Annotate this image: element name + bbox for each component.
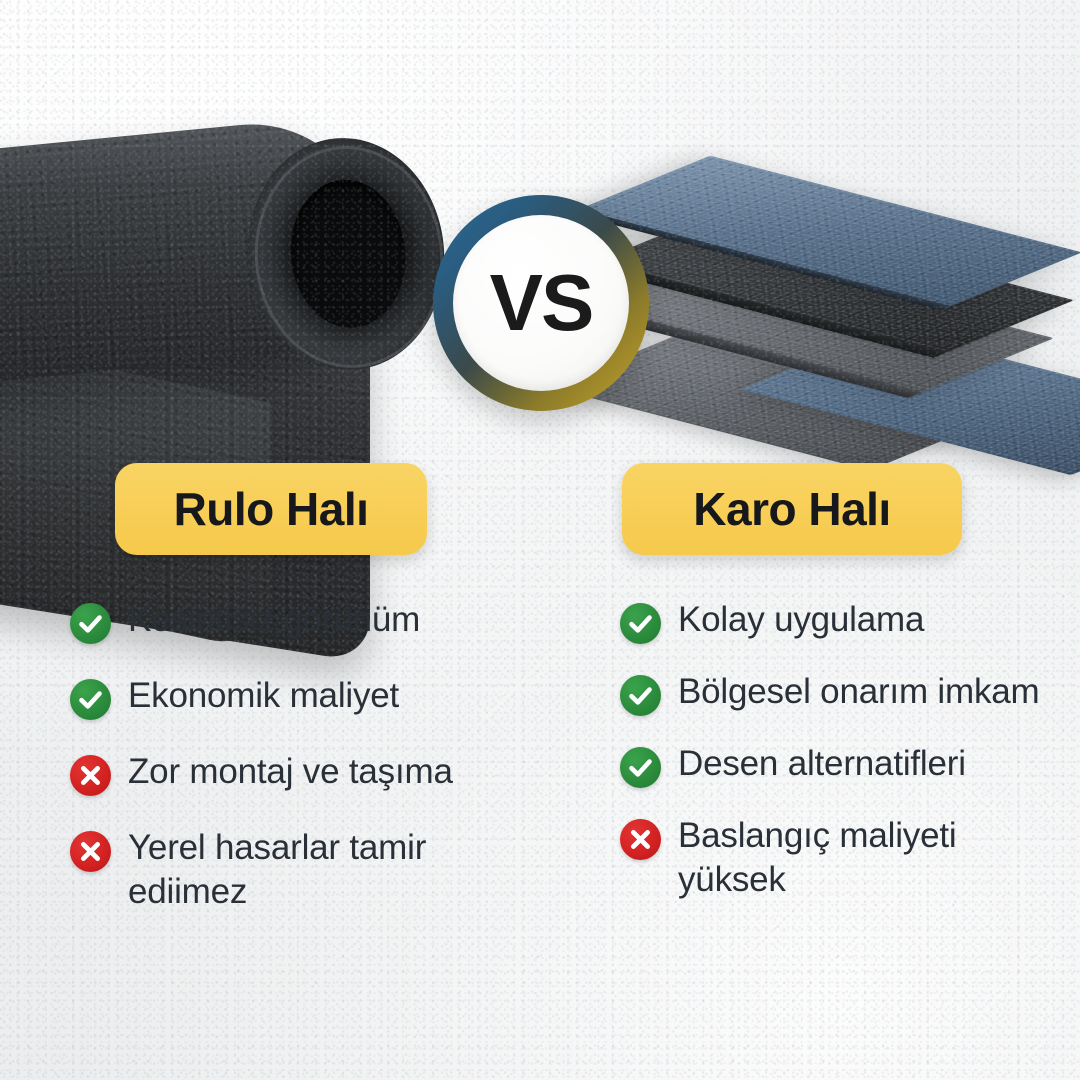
carpet-tiles-image: [600, 150, 1080, 510]
feature-list-karo-hali: Kolay uygulama Bölgesel onarım imkam Des…: [620, 598, 1050, 928]
feature-item: Zor montaj ve taşıma: [70, 750, 540, 796]
cross-icon: [70, 755, 111, 796]
feature-item: Baslangıç maliyeti yüksek: [620, 814, 1050, 902]
feature-item: Desen alternatifleri: [620, 742, 1050, 788]
feature-item: Yerel hasarlar tamir ediimez: [70, 826, 540, 914]
check-icon: [70, 679, 111, 720]
feature-text: Baslangıç maliyeti yüksek: [678, 814, 1050, 902]
feature-list-rulo-hali: Kesintisiz görünüm Ekonomik maliyet Zor …: [70, 598, 540, 944]
feature-item: Kolay uygulama: [620, 598, 1050, 644]
feature-text: Kesintisiz görünüm: [128, 598, 420, 642]
feature-text: Yerel hasarlar tamir ediimez: [128, 826, 540, 914]
vs-badge-inner: VS: [453, 215, 629, 391]
feature-text: Ekonomik maliyet: [128, 674, 399, 718]
feature-text: Bölgesel onarım imkam: [678, 670, 1040, 714]
feature-item: Kesintisiz görünüm: [70, 598, 540, 644]
vs-badge: VS: [433, 195, 649, 411]
feature-item: Ekonomik maliyet: [70, 674, 540, 720]
feature-text: Desen alternatifleri: [678, 742, 966, 786]
check-icon: [620, 747, 661, 788]
feature-text: Kolay uygulama: [678, 598, 924, 642]
cross-icon: [620, 819, 661, 860]
feature-text: Zor montaj ve taşıma: [128, 750, 453, 794]
column-title-badge-rulo-hali: Rulo Halı: [115, 463, 427, 555]
column-title-text: Rulo Halı: [174, 482, 369, 536]
rolled-carpet-image: [0, 120, 470, 520]
cross-icon: [70, 831, 111, 872]
column-title-text: Karo Halı: [693, 482, 890, 536]
vs-label: VS: [490, 263, 593, 343]
column-title-badge-karo-hali: Karo Halı: [622, 463, 962, 555]
check-icon: [620, 675, 661, 716]
check-icon: [70, 603, 111, 644]
feature-item: Bölgesel onarım imkam: [620, 670, 1050, 716]
check-icon: [620, 603, 661, 644]
comparison-infographic: VS Rulo Halı Karo Halı Kesintisiz görünü…: [0, 0, 1080, 1080]
